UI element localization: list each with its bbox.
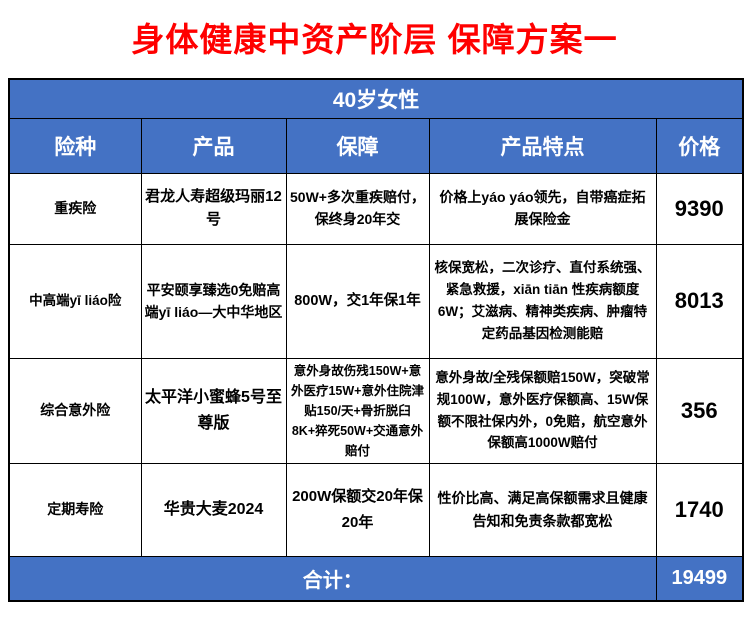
total-value: 19499 (656, 556, 743, 601)
table-row: 中高端yī liáo险 平安颐享臻选0免赔高端yī liáo—大中华地区 800… (9, 244, 743, 358)
row-type: 重疾险 (9, 173, 141, 244)
row-features: 价格上yáo yáo领先，自带癌症拓展保险金 (429, 173, 656, 244)
row-features: 核保宽松，二次诊疗、直付系统强、紧急救援，xiān tiān 性疾病额度6W；艾… (429, 244, 656, 358)
row-product: 太平洋小蜜蜂5号至尊版 (141, 358, 286, 463)
row-features: 性价比高、满足高保额需求且健康告知和免责条款都宽松 (429, 463, 656, 556)
row-product: 平安颐享臻选0免赔高端yī liáo—大中华地区 (141, 244, 286, 358)
table-row: 定期寿险 华贵大麦2024 200W保额交20年保20年 性价比高、满足高保额需… (9, 463, 743, 556)
column-header-price: 价格 (656, 118, 743, 173)
plan-table-wrapper: 40岁女性 险种 产品 保障 产品特点 价格 重疾险 君龙人寿超级玛丽12号 5… (8, 78, 742, 602)
row-product: 君龙人寿超级玛丽12号 (141, 173, 286, 244)
row-type: 中高端yī liáo险 (9, 244, 141, 358)
total-label: 合计： (9, 556, 656, 601)
table-row: 综合意外险 太平洋小蜜蜂5号至尊版 意外身故伤残150W+意外医疗15W+意外住… (9, 358, 743, 463)
table-total-row: 合计： 19499 (9, 556, 743, 601)
subject-cell: 40岁女性 (9, 79, 743, 118)
row-coverage: 50W+多次重疾赔付，保终身20年交 (286, 173, 429, 244)
row-product: 华贵大麦2024 (141, 463, 286, 556)
column-header-type: 险种 (9, 118, 141, 173)
row-price: 8013 (656, 244, 743, 358)
table-subject-row: 40岁女性 (9, 79, 743, 118)
column-header-features: 产品特点 (429, 118, 656, 173)
row-type: 定期寿险 (9, 463, 141, 556)
page-title: 身体健康中资产阶层 保障方案一 (0, 20, 749, 60)
row-features: 意外身故/全残保额赔150W，突破常规100W，意外医疗保额高、15W保额不限社… (429, 358, 656, 463)
row-price: 356 (656, 358, 743, 463)
row-price: 9390 (656, 173, 743, 244)
column-header-product: 产品 (141, 118, 286, 173)
table-header-row: 险种 产品 保障 产品特点 价格 (9, 118, 743, 173)
table-row: 重疾险 君龙人寿超级玛丽12号 50W+多次重疾赔付，保终身20年交 价格上yá… (9, 173, 743, 244)
row-type: 综合意外险 (9, 358, 141, 463)
row-coverage: 800W，交1年保1年 (286, 244, 429, 358)
column-header-coverage: 保障 (286, 118, 429, 173)
row-coverage: 200W保额交20年保20年 (286, 463, 429, 556)
row-price: 1740 (656, 463, 743, 556)
plan-page: 身体健康中资产阶层 保障方案一 40岁女性 险种 产品 保障 产品特点 价 (0, 0, 749, 633)
insurance-plan-table: 40岁女性 险种 产品 保障 产品特点 价格 重疾险 君龙人寿超级玛丽12号 5… (8, 78, 744, 602)
row-coverage: 意外身故伤残150W+意外医疗15W+意外住院津贴150/天+骨折脱臼8K+猝死… (286, 358, 429, 463)
